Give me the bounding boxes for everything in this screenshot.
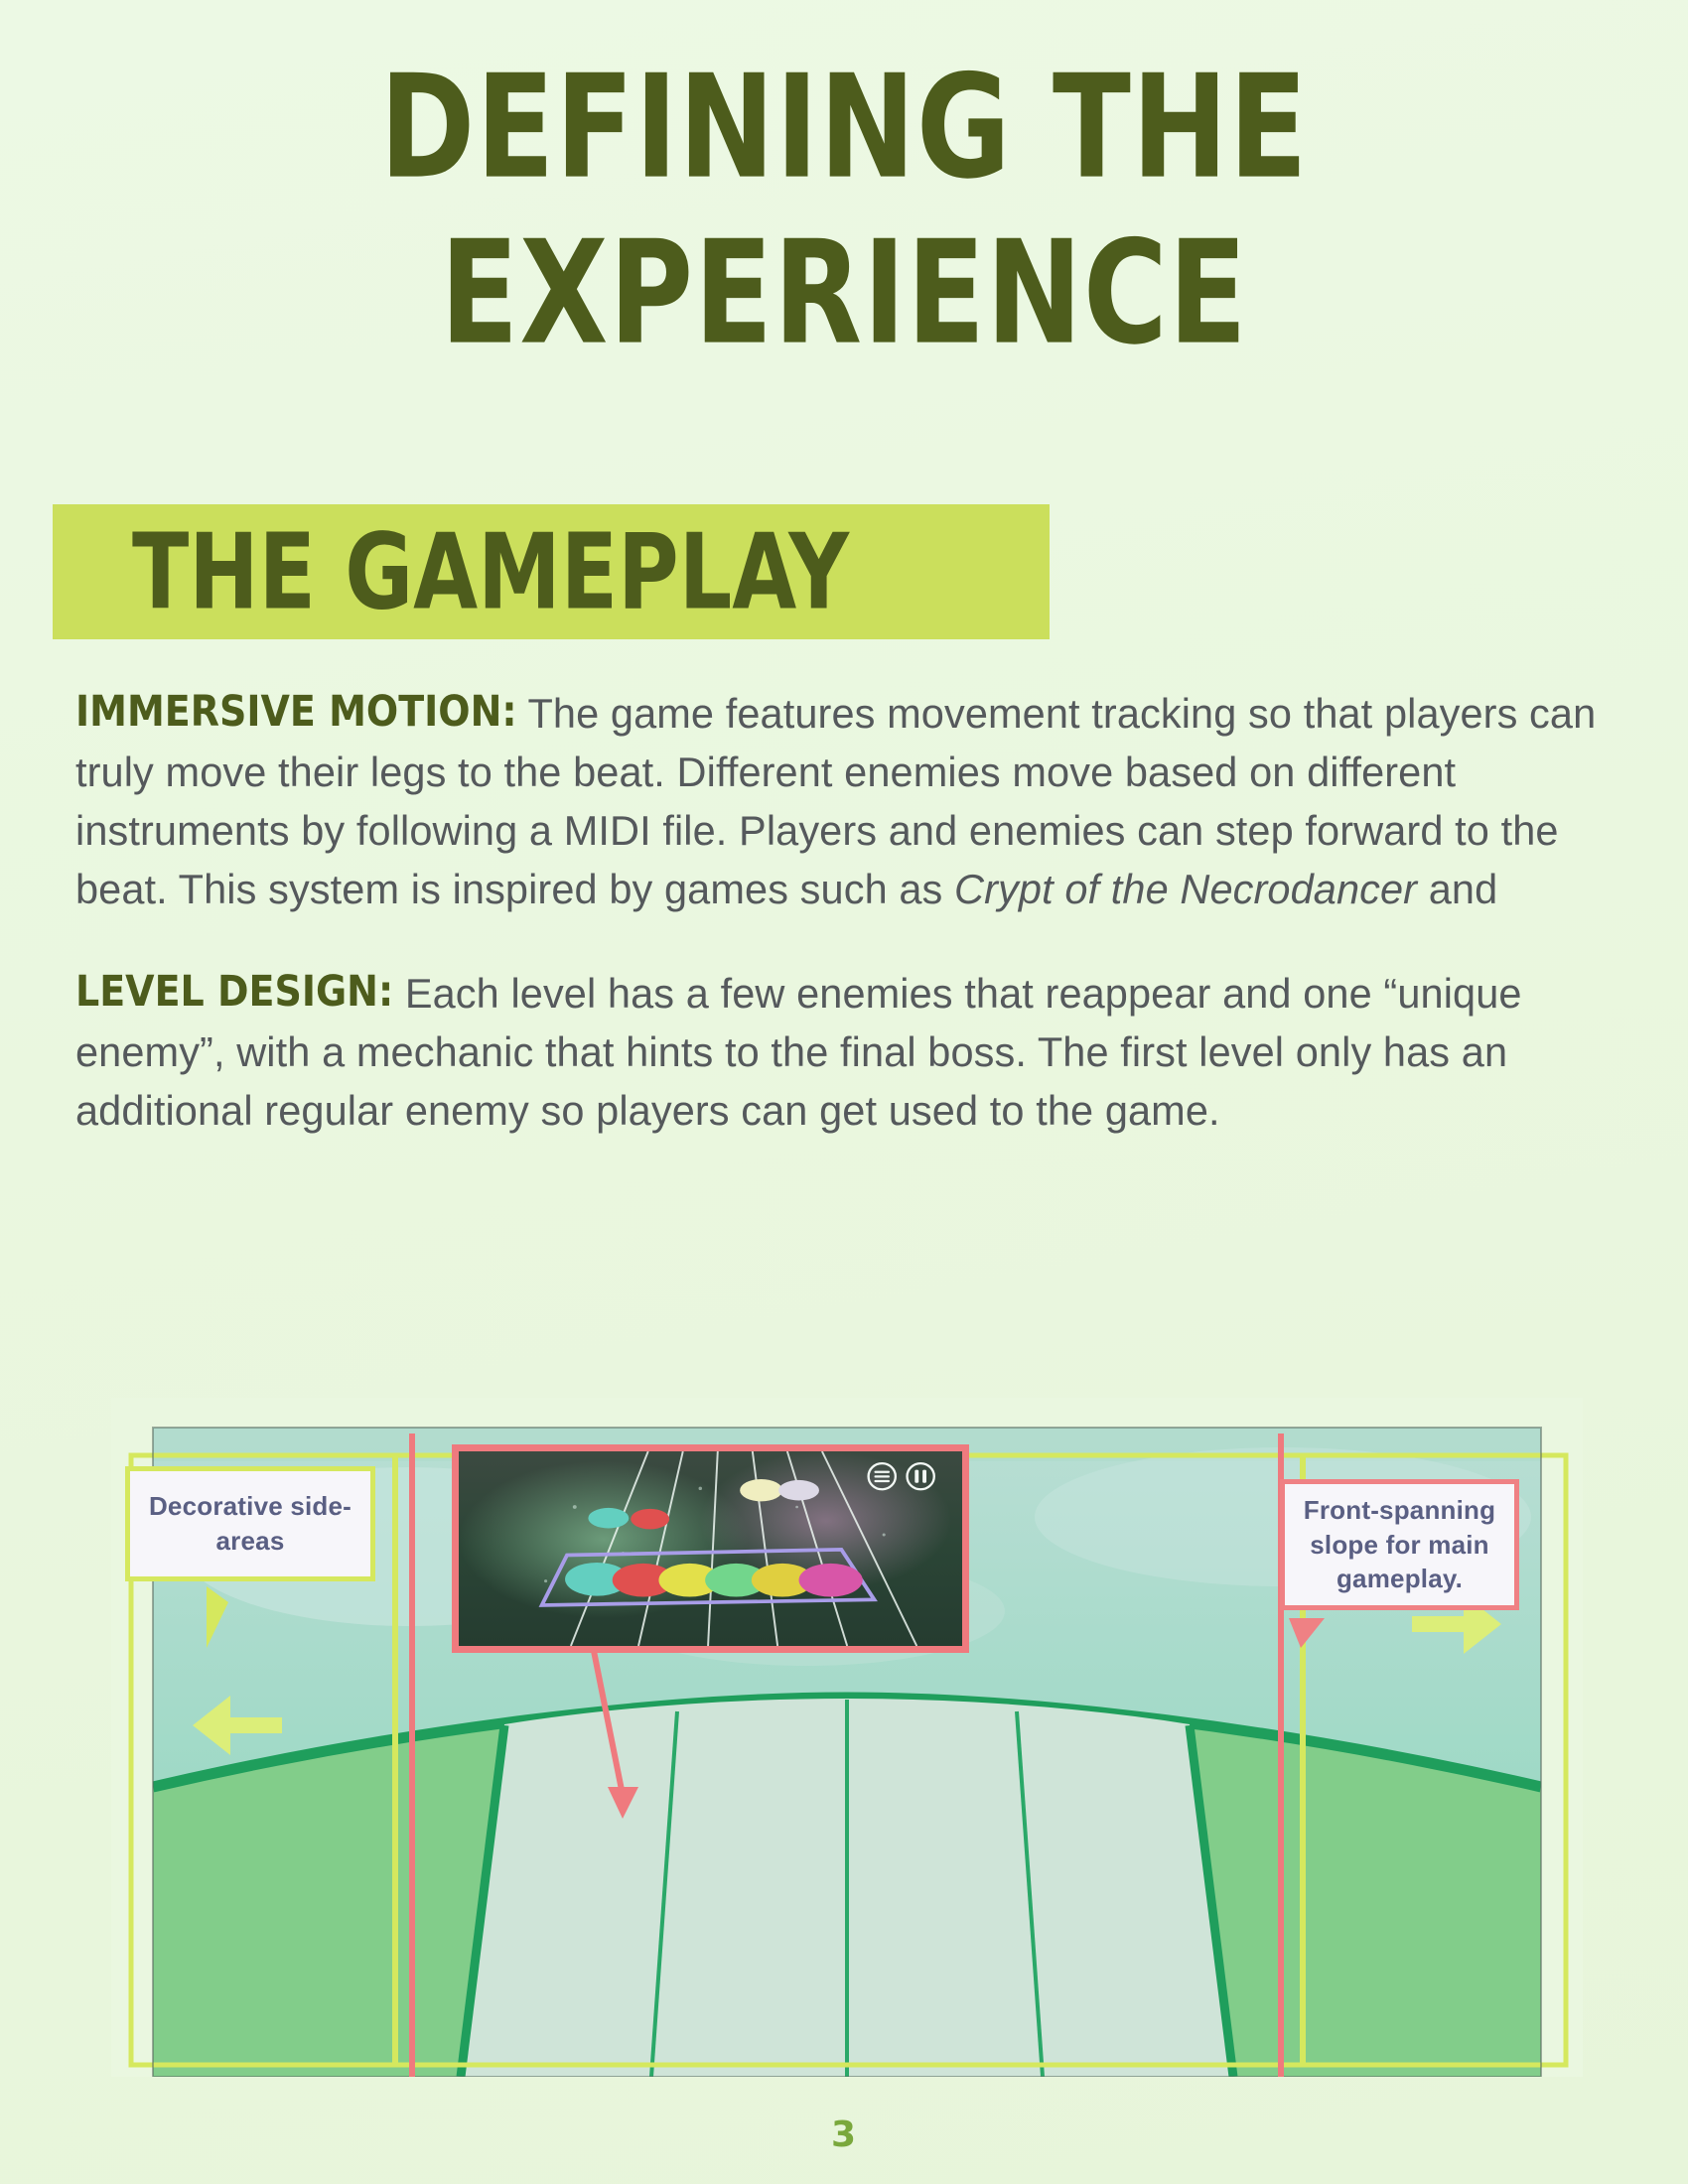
paragraph-lead-label: LEVEL DESIGN: <box>75 962 393 1022</box>
callout-left-label: Decorative side-areas <box>142 1489 358 1558</box>
title-line-1: DEFINING THE <box>17 52 1671 229</box>
game-note-upper <box>631 1509 669 1530</box>
paragraph-immersive-motion: IMMERSIVE MOTION: The game features move… <box>75 685 1622 919</box>
game-note-target <box>799 1564 863 1597</box>
callout-decorative-side-areas: Decorative side-areas <box>125 1466 375 1581</box>
section-banner: THE GAMEPLAY <box>53 504 1050 639</box>
paragraph-italic-title: Crypt of the Necrodancer <box>954 866 1417 912</box>
callout-right-label: Front-spanning slope for main gameplay. <box>1295 1493 1504 1596</box>
page-root: DEFINING THE EXPERIENCE THE GAMEPLAY IMM… <box>0 0 1688 2184</box>
game-screenshot-svg <box>459 1451 962 1646</box>
game-screenshot-inset <box>452 1444 969 1653</box>
page-title: DEFINING THE EXPERIENCE <box>0 0 1688 363</box>
game-note-upper <box>740 1479 782 1501</box>
paragraph-level-design: LEVEL DESIGN: Each level has a few enemi… <box>75 965 1622 1141</box>
page-number: 3 <box>0 2115 1688 2155</box>
body-copy: IMMERSIVE MOTION: The game features move… <box>75 685 1622 1140</box>
callout-front-spanning-slope: Front-spanning slope for main gameplay. <box>1280 1479 1519 1610</box>
paragraph-text-part2: and <box>1417 866 1497 912</box>
game-note-upper <box>588 1508 629 1529</box>
title-line-2: EXPERIENCE <box>17 217 1671 395</box>
paragraph-lead-label: IMMERSIVE MOTION: <box>75 683 517 743</box>
game-note-upper <box>778 1480 819 1501</box>
section-banner-label: THE GAMEPLAY <box>53 520 849 624</box>
